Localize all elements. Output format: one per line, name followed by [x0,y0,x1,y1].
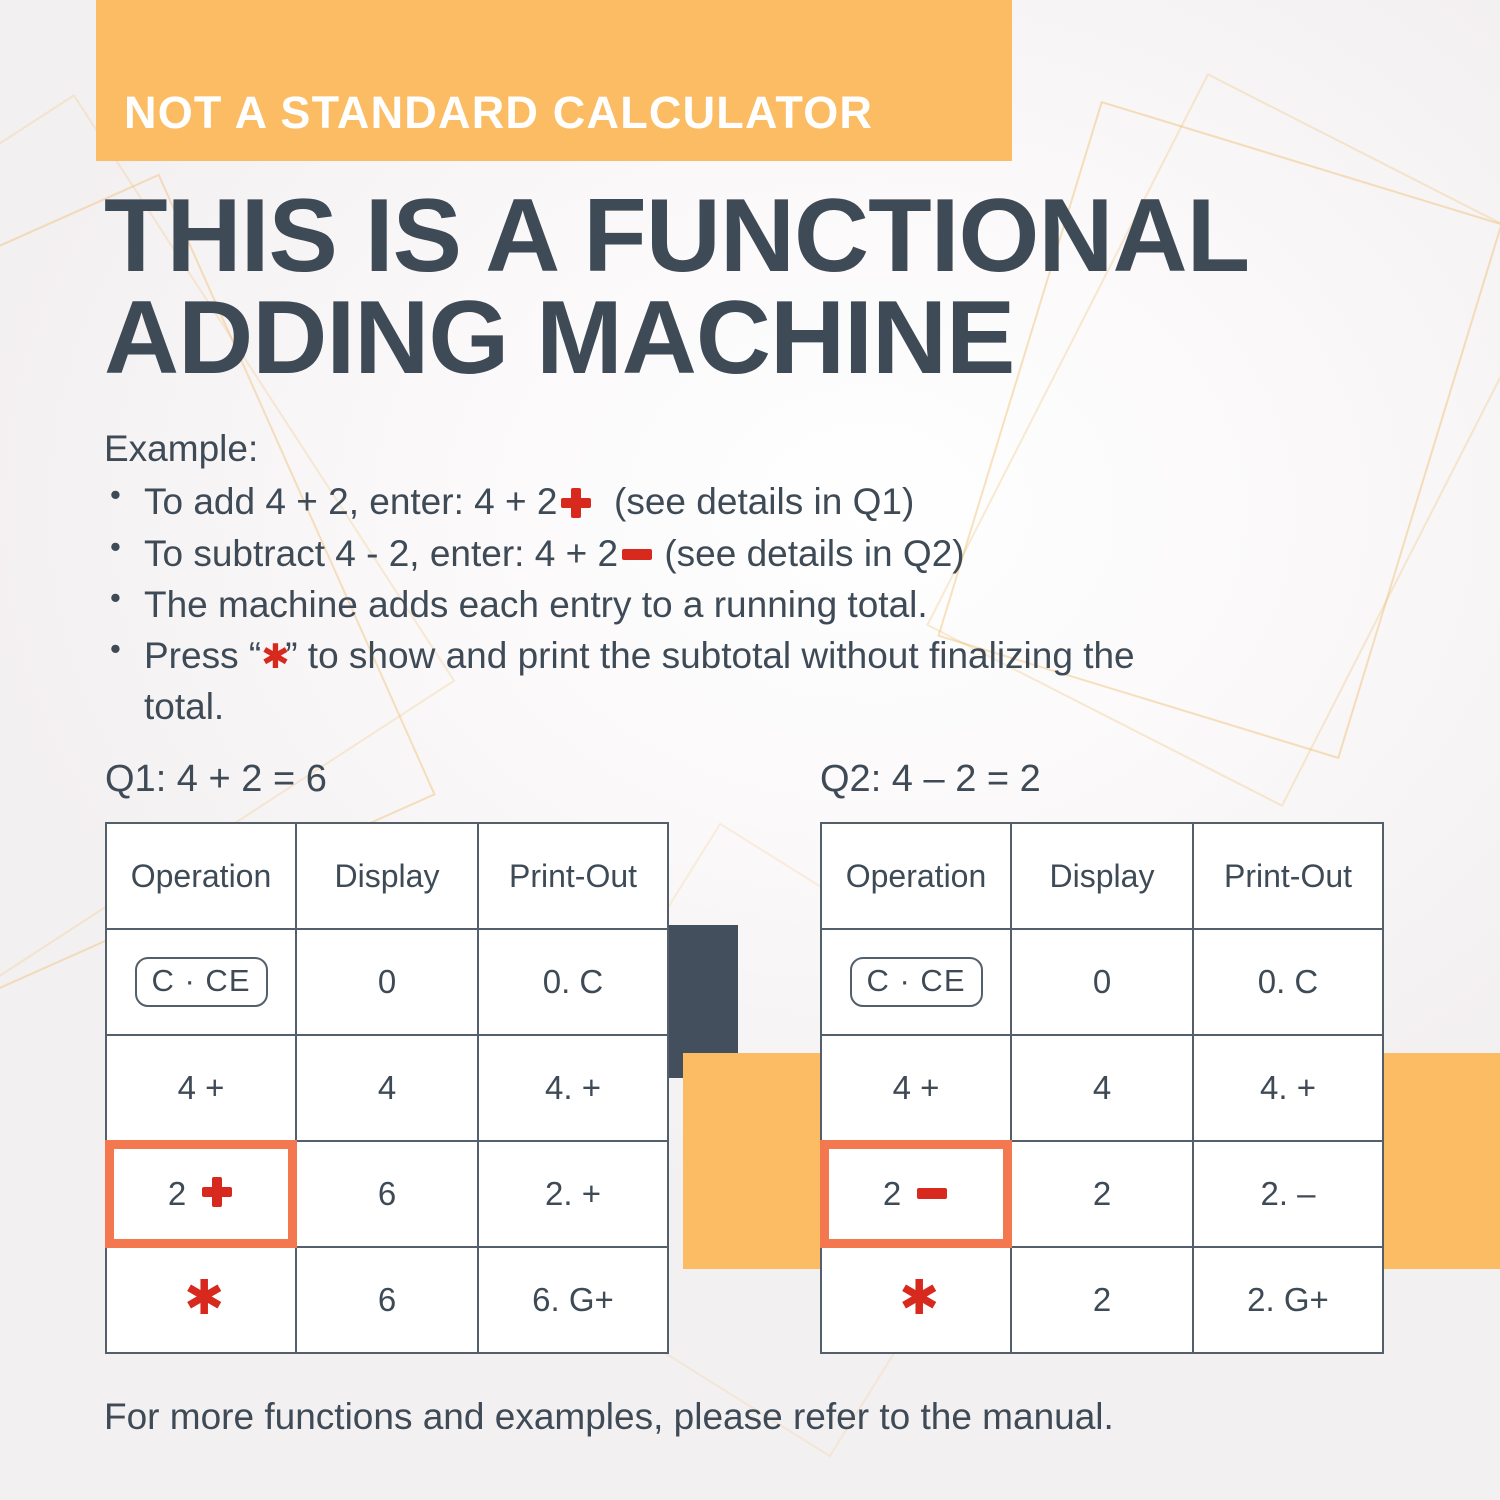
page-title: THIS IS A FUNCTIONAL ADDING MACHINE [104,186,1424,390]
asterisk-icon [899,1282,933,1316]
list-item: The machine adds each entry to a running… [104,580,1304,630]
cell-display: 0 [296,929,478,1035]
bullet-text-after: (see details in Q1) [614,481,914,522]
example-bullet-list: To add 4 + 2, enter: 4 + 2 (see details … [104,477,1304,732]
infographic-root: NOT A STANDARD CALCULATOR THIS IS A FUNC… [0,0,1500,1500]
column-header-operation: Operation [821,823,1011,929]
table-row: 2 2. G+ [821,1247,1383,1353]
cell-display: 2 [1011,1141,1193,1247]
bullet-text-after: (see details in Q2) [664,533,964,574]
page-title-line2: ADDING MACHINE [104,288,1424,390]
page-title-line1: THIS IS A FUNCTIONAL [104,178,1249,294]
table-row: 2 6 2. + [106,1141,668,1247]
list-item: Press “” to show and print the subtotal … [104,631,1194,732]
header-banner: NOT A STANDARD CALCULATOR [96,0,1012,161]
cell-printout: 2. + [478,1141,668,1247]
cell-printout: 0. C [1193,929,1383,1035]
column-header-operation: Operation [106,823,296,929]
bullet-text-before: To subtract 4 - 2, enter: 4 + 2 [144,533,618,574]
cell-operation: 4 + [821,1035,1011,1141]
q2-table: Operation Display Print-Out C · CE 0 0. … [820,822,1384,1354]
plus-icon [202,1177,232,1207]
bullet-text-before: Press “ [144,635,261,676]
column-header-printout: Print-Out [478,823,668,929]
list-item: To add 4 + 2, enter: 4 + 2 (see details … [104,477,1304,527]
cell-operation: C · CE [821,929,1011,1035]
plus-icon [561,488,591,518]
table-row: 6 6. G+ [106,1247,668,1353]
example-section: Example: To add 4 + 2, enter: 4 + 2 (see… [104,424,1304,733]
cell-display: 2 [1011,1247,1193,1353]
cell-display: 6 [296,1141,478,1247]
table-header-row: Operation Display Print-Out [106,823,668,929]
cell-operation-highlighted: 2 [821,1141,1011,1247]
cell-printout: 4. + [1193,1035,1383,1141]
footer-note: For more functions and examples, please … [104,1396,1114,1438]
table-row: C · CE 0 0. C [106,929,668,1035]
cell-operation: 4 + [106,1035,296,1141]
banner-title: NOT A STANDARD CALCULATOR [96,90,873,161]
cell-operation [106,1247,296,1353]
table-row: 2 2 2. – [821,1141,1383,1247]
deco-orange-block-right [1376,1053,1500,1269]
column-header-display: Display [1011,823,1193,929]
cell-display: 6 [296,1247,478,1353]
cell-printout: 6. G+ [478,1247,668,1353]
q2-title: Q2: 4 – 2 = 2 [820,760,1384,798]
clear-entry-button[interactable]: C · CE [135,957,268,1007]
cell-display: 0 [1011,929,1193,1035]
cell-operation-highlighted: 2 [106,1141,296,1247]
q1-table: Operation Display Print-Out C · CE 0 0. … [105,822,669,1354]
cell-display: 4 [1011,1035,1193,1141]
q1-block: Q1: 4 + 2 = 6 Operation Display Print-Ou… [105,760,669,1354]
operation-value: 2 [883,1175,901,1213]
cell-display: 4 [296,1035,478,1141]
operation-value: 2 [168,1175,186,1213]
minus-icon [622,549,652,560]
cell-operation [821,1247,1011,1353]
list-item: To subtract 4 - 2, enter: 4 + 2 (see det… [104,529,1304,579]
cell-printout: 2. – [1193,1141,1383,1247]
column-header-display: Display [296,823,478,929]
q2-block: Q2: 4 – 2 = 2 Operation Display Print-Ou… [820,760,1384,1354]
column-header-printout: Print-Out [1193,823,1383,929]
cell-printout: 2. G+ [1193,1247,1383,1353]
cell-operation: C · CE [106,929,296,1035]
table-row: 4 + 4 4. + [821,1035,1383,1141]
asterisk-icon [184,1282,218,1316]
minus-icon [917,1188,947,1199]
clear-entry-button[interactable]: C · CE [850,957,983,1007]
asterisk-icon [261,645,285,669]
bullet-text-before: The machine adds each entry to a running… [144,584,928,625]
table-row: 4 + 4 4. + [106,1035,668,1141]
bullet-text-after: ” to show and print the subtotal without… [144,635,1135,726]
deco-orange-block-middle [683,1053,821,1269]
q1-title: Q1: 4 + 2 = 6 [105,760,669,798]
example-label: Example: [104,424,1304,474]
cell-printout: 0. C [478,929,668,1035]
table-row: C · CE 0 0. C [821,929,1383,1035]
cell-printout: 4. + [478,1035,668,1141]
table-header-row: Operation Display Print-Out [821,823,1383,929]
bullet-text-before: To add 4 + 2, enter: 4 + 2 [144,481,557,522]
